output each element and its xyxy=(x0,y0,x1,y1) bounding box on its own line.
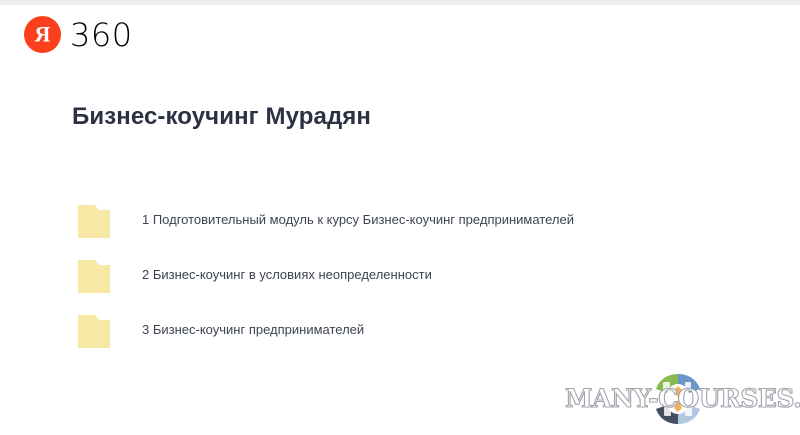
yandex-360-logo[interactable]: Я 360 xyxy=(24,16,133,53)
folder-label: 2 Бизнес-коучинг в условиях неопределенн… xyxy=(142,267,432,284)
yandex-ya-icon: Я xyxy=(24,16,61,53)
logo-wordmark: 360 xyxy=(70,19,133,51)
folder-list: 1 Подготовительный модуль к курсу Бизнес… xyxy=(78,193,768,358)
watermark: MANY-COURSES.COM xyxy=(565,368,797,430)
folder-icon xyxy=(78,314,110,348)
site-header: Я 360 xyxy=(0,5,800,67)
yandex-ya-glyph: Я xyxy=(24,23,61,45)
folder-icon xyxy=(78,259,110,293)
list-item[interactable]: 1 Подготовительный модуль к курсу Бизнес… xyxy=(78,193,768,248)
folder-label: 1 Подготовительный модуль к курсу Бизнес… xyxy=(142,212,574,229)
folder-icon xyxy=(78,204,110,238)
list-item[interactable]: 3 Бизнес-коучинг предпринимателей xyxy=(78,303,768,358)
watermark-text: MANY-COURSES.COM xyxy=(565,384,797,413)
page-title: Бизнес-коучинг Мурадян xyxy=(72,103,371,131)
folder-label: 3 Бизнес-коучинг предпринимателей xyxy=(142,322,364,339)
list-item[interactable]: 2 Бизнес-коучинг в условиях неопределенн… xyxy=(78,248,768,303)
